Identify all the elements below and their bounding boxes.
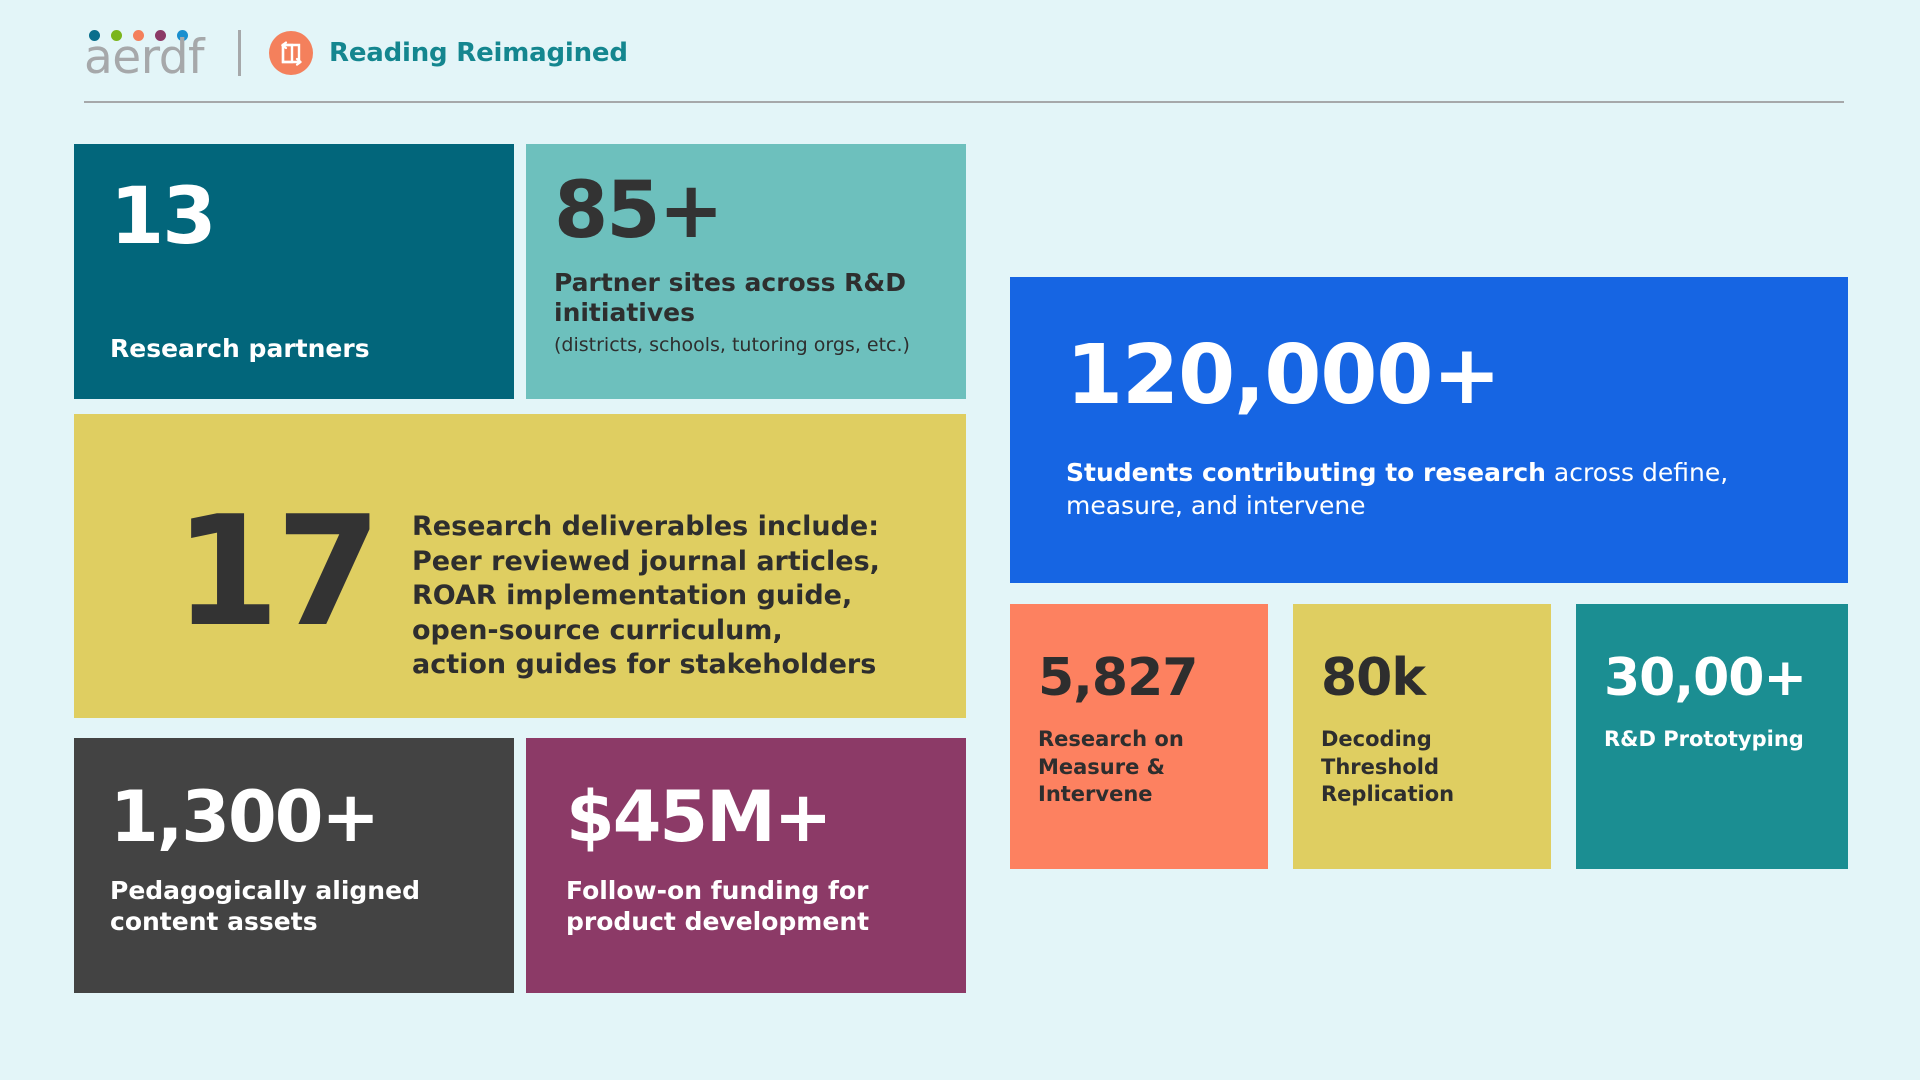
aerdf-logo[interactable]: aerdf xyxy=(84,22,202,84)
infographic-page: aerdf Reading Reimagined 13 xyxy=(0,0,1920,1080)
stat-label: Pedagogically aligned content assets xyxy=(110,876,480,937)
stat-value: 80k xyxy=(1321,652,1551,704)
stat-tile-content-assets[interactable]: 1,300+ Pedagogically aligned content ass… xyxy=(74,738,514,993)
stat-label: Research deliverables include: Peer revi… xyxy=(412,510,880,683)
stat-tile-research-partners[interactable]: 13 Research partners xyxy=(74,144,514,399)
stat-label: Students contributing to research across… xyxy=(1066,457,1800,522)
aerdf-wordmark: aerdf xyxy=(84,32,204,84)
stat-label: Research partners xyxy=(110,334,370,363)
stat-value: 30,00+ xyxy=(1604,652,1848,704)
stat-tile-students-contributing[interactable]: 120,000+ Students contributing to resear… xyxy=(1010,277,1848,583)
program-title: Reading Reimagined xyxy=(329,38,628,68)
stat-tile-partner-sites[interactable]: 85+ Partner sites across R&D initiatives… xyxy=(526,144,966,399)
header-rule xyxy=(84,101,1844,103)
stat-value: 85+ xyxy=(554,172,940,250)
page-header: aerdf Reading Reimagined xyxy=(0,0,1920,108)
stat-value: 120,000+ xyxy=(1066,335,1800,417)
stat-value: 17 xyxy=(174,496,378,648)
stat-value: 5,827 xyxy=(1038,652,1268,704)
reading-reimagined-logo[interactable]: Reading Reimagined xyxy=(269,31,628,75)
stat-label: Partner sites across R&D initiatives xyxy=(554,268,940,327)
header-divider xyxy=(238,30,241,76)
logo-row: aerdf Reading Reimagined xyxy=(84,22,628,84)
stat-label-bold: Students contributing to research xyxy=(1066,458,1546,487)
stat-label: Research on Measure & Intervene xyxy=(1038,726,1268,809)
stat-tile-research-deliverables[interactable]: 17 Research deliverables include: Peer r… xyxy=(74,414,966,718)
stat-value: $45M+ xyxy=(566,782,932,852)
stat-tile-measure-intervene[interactable]: 5,827 Research on Measure & Intervene xyxy=(1010,604,1268,869)
stat-label: Follow-on funding for product developmen… xyxy=(566,876,932,937)
stat-tile-decoding-threshold[interactable]: 80k Decoding Threshold Replication xyxy=(1293,604,1551,869)
stat-tile-rd-prototyping[interactable]: 30,00+ R&D Prototyping xyxy=(1576,604,1848,869)
stat-tile-follow-on-funding[interactable]: $45M+ Follow-on funding for product deve… xyxy=(526,738,966,993)
stat-value: 1,300+ xyxy=(110,782,480,852)
reading-reimagined-icon xyxy=(269,31,313,75)
stat-value: 13 xyxy=(110,178,478,256)
stat-label: Decoding Threshold Replication xyxy=(1321,726,1551,809)
stat-label: R&D Prototyping xyxy=(1604,726,1848,754)
stat-note: (districts, schools, tutoring orgs, etc.… xyxy=(554,334,940,356)
